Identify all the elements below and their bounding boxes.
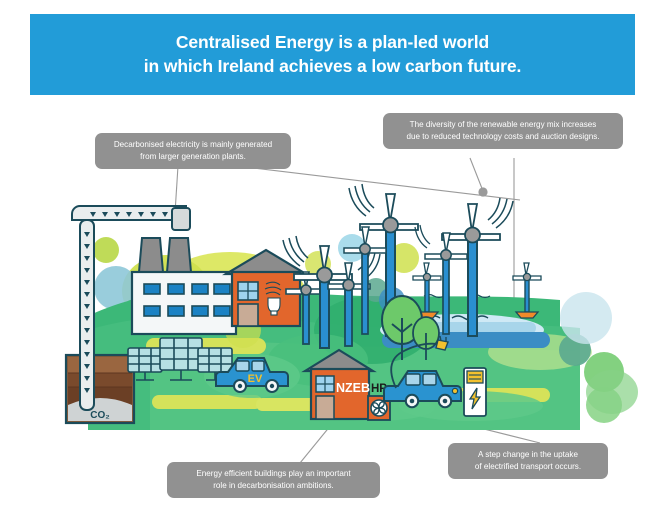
callout-decarbonised-electricity[interactable]: Decarbonised electricity is mainly gener… [95, 133, 291, 169]
callout-line-1: Decarbonised electricity is mainly gener… [104, 139, 282, 151]
callout-line-2: of electrified transport occurs. [457, 461, 599, 473]
callout-line-1: Energy efficient buildings play an impor… [176, 468, 371, 480]
callout-line-2: role in decarbonisation ambitions. [176, 480, 371, 492]
callout-line-1: A step change in the uptake [457, 449, 599, 461]
ev-badge-left: EV [248, 373, 263, 385]
callout-electrified-transport[interactable]: A step change in the uptake of electrifi… [448, 443, 608, 479]
nzeb-label: NZEB [336, 381, 370, 395]
callout-line-2: due to reduced technology costs and auct… [392, 131, 614, 143]
infographic-root: Centralised Energy is a plan-led world i… [0, 0, 655, 519]
leader-dot-windfarm [478, 187, 487, 196]
co2-underground-storage: CO₂ [66, 355, 134, 423]
ev-charging-post [464, 368, 486, 416]
co2-label: CO₂ [90, 410, 109, 421]
callout-line-2: from larger generation plants. [104, 151, 282, 163]
callout-line-1: The diversity of the renewable energy mi… [392, 119, 614, 131]
callout-energy-efficient-buildings[interactable]: Energy efficient buildings play an impor… [167, 462, 380, 498]
callout-renewable-diversity[interactable]: The diversity of the renewable energy mi… [383, 113, 623, 149]
illustration-scene: CO₂ [0, 0, 655, 519]
